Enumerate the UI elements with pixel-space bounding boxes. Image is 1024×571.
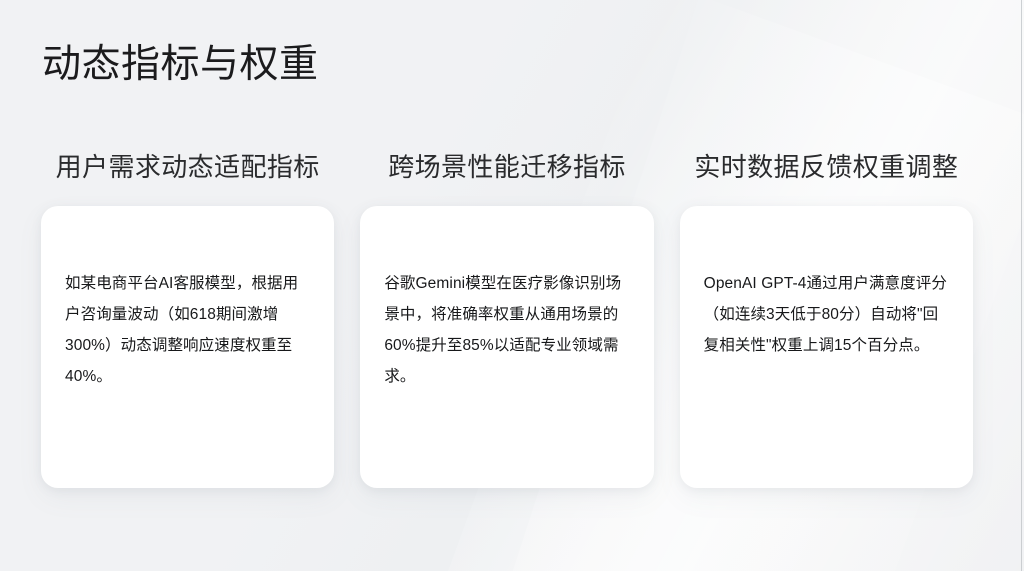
card-body-3: OpenAI GPT-4通过用户满意度评分（如连续3天低于80分）自动将"回复相… (704, 268, 949, 361)
column-cross-scenario: 跨场景性能迁移指标 谷歌Gemini模型在医疗影像识别场景中，将准确率权重从通用… (360, 150, 653, 488)
slide-canvas: 动态指标与权重 用户需求动态适配指标 如某电商平台AI客服模型，根据用户咨询量波… (0, 0, 1024, 571)
card-columns: 用户需求动态适配指标 如某电商平台AI客服模型，根据用户咨询量波动（如618期间… (41, 150, 973, 488)
page-title: 动态指标与权重 (42, 40, 319, 90)
column-realtime-feedback: 实时数据反馈权重调整 OpenAI GPT-4通过用户满意度评分（如连续3天低于… (680, 150, 973, 488)
card-1[interactable]: 如某电商平台AI客服模型，根据用户咨询量波动（如618期间激增300%）动态调整… (41, 206, 334, 488)
card-body-2: 谷歌Gemini模型在医疗影像识别场景中，将准确率权重从通用场景的60%提升至8… (384, 268, 629, 392)
card-heading-1: 用户需求动态适配指标 (41, 150, 334, 184)
card-3[interactable]: OpenAI GPT-4通过用户满意度评分（如连续3天低于80分）自动将"回复相… (680, 206, 973, 488)
card-2[interactable]: 谷歌Gemini模型在医疗影像识别场景中，将准确率权重从通用场景的60%提升至8… (360, 206, 653, 488)
card-body-1: 如某电商平台AI客服模型，根据用户咨询量波动（如618期间激增300%）动态调整… (65, 268, 310, 392)
column-user-demand: 用户需求动态适配指标 如某电商平台AI客服模型，根据用户咨询量波动（如618期间… (41, 150, 334, 488)
slide-right-edge-line (1021, 0, 1022, 571)
card-heading-3: 实时数据反馈权重调整 (680, 150, 973, 184)
card-heading-2: 跨场景性能迁移指标 (360, 150, 653, 184)
